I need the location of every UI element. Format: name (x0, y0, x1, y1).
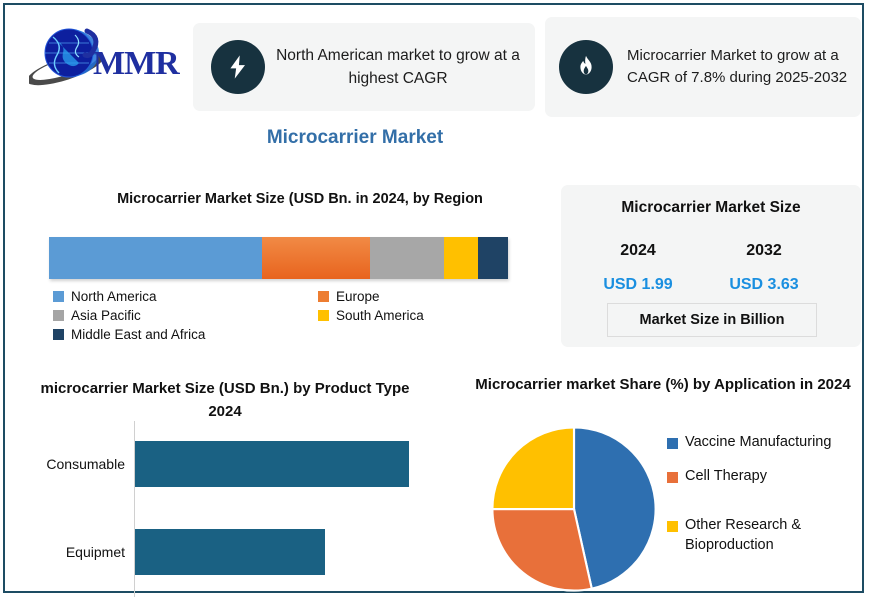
legend-swatch-icon (667, 438, 678, 449)
legend-swatch-icon (667, 521, 678, 532)
highlight-card-cagr: Microcarrier Market to grow at a CAGR of… (545, 17, 861, 117)
flame-icon (559, 40, 613, 94)
highlight-card-north-america: North American market to grow at a highe… (193, 23, 535, 111)
legend-item-europe: Europe (318, 289, 380, 304)
brand-logo: MMR (21, 17, 191, 105)
market-size-column-2024: 2024 USD 1.99 (583, 242, 693, 294)
legend-label: South America (336, 308, 424, 323)
stacked-segment-north-america (49, 237, 262, 279)
legend-label: Asia Pacific (71, 308, 141, 323)
pie-legend-item-cell-therapy: Cell Therapy (667, 467, 867, 487)
market-size-year: 2032 (709, 242, 819, 260)
legend-item-north-america: North America (53, 289, 318, 304)
region-legend: North America Europe Asia Pacific South … (53, 289, 523, 346)
stacked-segment-europe (262, 237, 370, 279)
highlight-card-text: North American market to grow at a highe… (265, 44, 535, 91)
product-bar-label: Equipmet (66, 544, 125, 560)
legend-item-south-america: South America (318, 308, 424, 323)
market-size-title: Microcarrier Market Size (561, 199, 861, 217)
pie-chart-title: Microcarrier market Share (%) by Applica… (465, 373, 861, 396)
legend-swatch-icon (318, 291, 329, 302)
market-size-panel: Microcarrier Market Size 2024 USD 1.99 2… (561, 185, 861, 347)
market-size-value: USD 1.99 (583, 276, 693, 294)
legend-swatch-icon (318, 310, 329, 321)
product-bar-label: Consumable (46, 456, 125, 472)
application-share-pie (489, 423, 659, 595)
product-bar (135, 441, 409, 487)
legend-swatch-icon (667, 472, 678, 483)
pie-legend-item-vaccine-manufacturing: Vaccine Manufacturing (667, 433, 867, 453)
stacked-segment-asia-pacific (370, 237, 443, 279)
legend-label: Cell Therapy (685, 467, 767, 487)
market-size-footer: Market Size in Billion (607, 303, 817, 337)
legend-label: Other Research & Bioproduction (685, 516, 867, 555)
legend-swatch-icon (53, 329, 64, 340)
stacked-segment-south-america (444, 237, 478, 279)
pie-slice-other-research (492, 427, 574, 509)
product-bar (135, 529, 325, 575)
logo-wordmark: MMR (93, 45, 179, 83)
pie-legend: Vaccine Manufacturing Cell Therapy Other… (667, 433, 867, 569)
region-stacked-bar (49, 237, 508, 279)
product-chart-plot: Consumable Equipmet (23, 413, 427, 597)
page-title: Microcarrier Market (5, 127, 705, 149)
legend-label: Europe (336, 289, 380, 304)
market-size-year: 2024 (583, 242, 693, 260)
product-bar-row-consumable: Consumable (23, 441, 427, 487)
legend-swatch-icon (53, 291, 64, 302)
pie-legend-item-other-research: Other Research & Bioproduction (667, 516, 867, 555)
region-chart-title: Microcarrier Market Size (USD Bn. in 202… (35, 191, 565, 207)
market-size-value: USD 3.63 (709, 276, 819, 294)
product-bar-row-equipmet: Equipmet (23, 529, 427, 575)
pie-slice-cell-therapy (492, 509, 591, 591)
legend-label: North America (71, 289, 157, 304)
stacked-segment-middle-east-africa (478, 237, 508, 279)
legend-item-middle-east-africa: Middle East and Africa (53, 327, 318, 342)
legend-label: Middle East and Africa (71, 327, 205, 342)
market-size-column-2032: 2032 USD 3.63 (709, 242, 819, 294)
legend-swatch-icon (53, 310, 64, 321)
legend-item-asia-pacific: Asia Pacific (53, 308, 318, 323)
lightning-bolt-icon (211, 40, 265, 94)
legend-label: Vaccine Manufacturing (685, 433, 831, 453)
legend-spacer (667, 500, 867, 516)
infographic-frame: MMR North American market to grow at a h… (3, 3, 864, 593)
highlight-card-text: Microcarrier Market to grow at a CAGR of… (613, 45, 861, 90)
